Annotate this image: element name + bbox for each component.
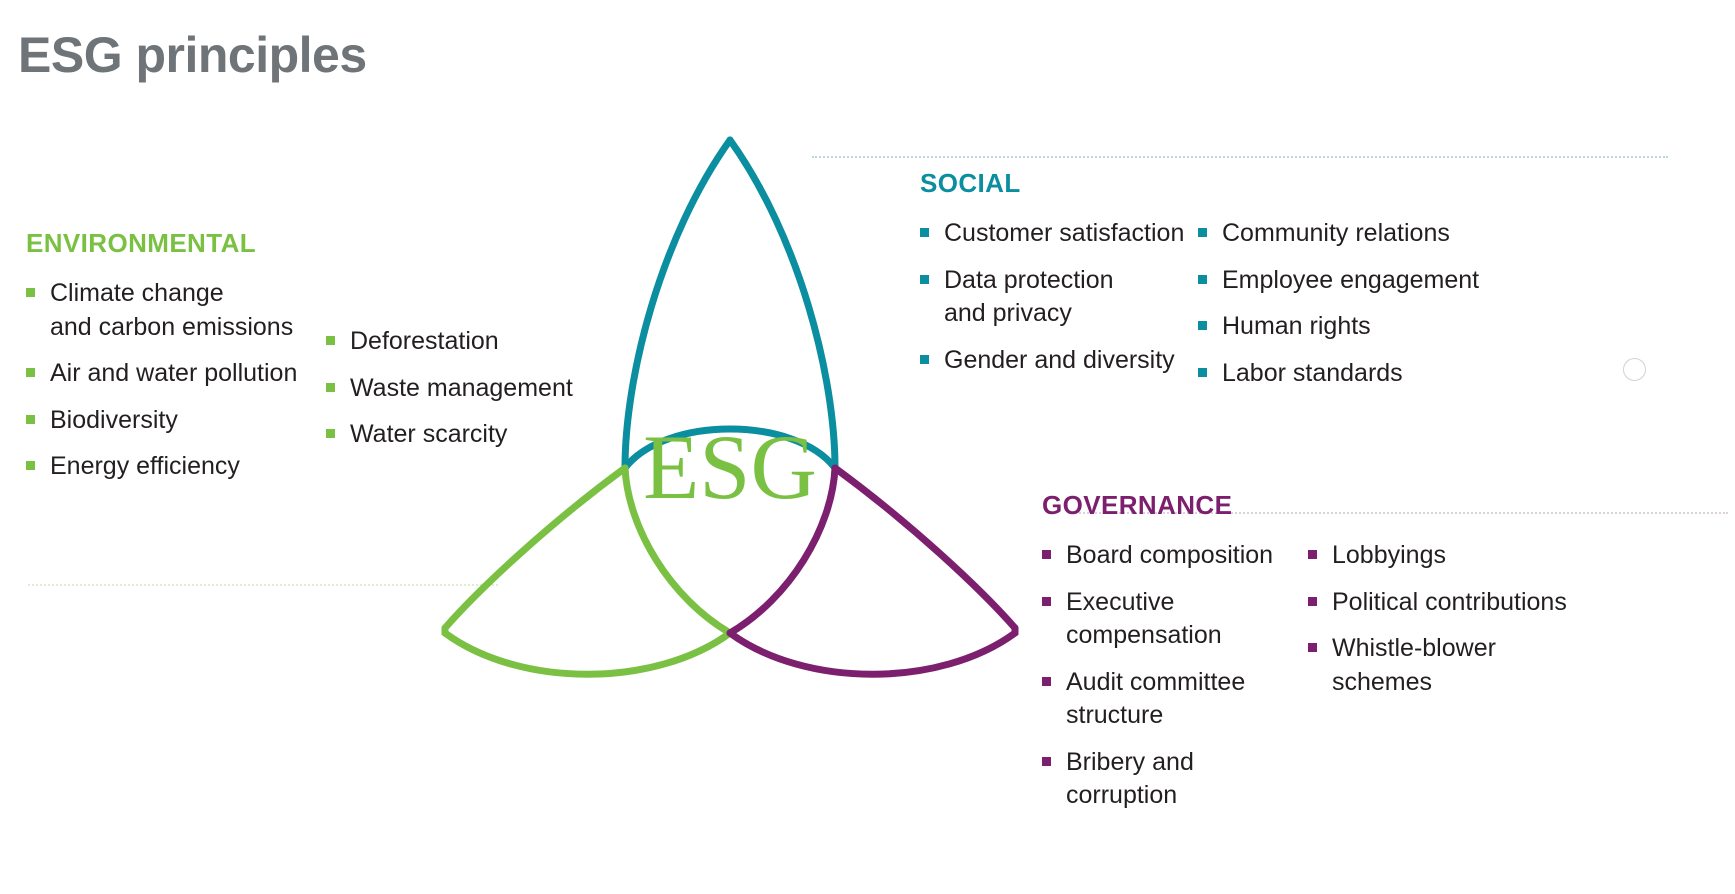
page-title: ESG principles xyxy=(18,26,367,84)
list-item: Human rights xyxy=(1198,310,1488,344)
category-environmental: ENVIRONMENTAL Climate change and carbon … xyxy=(26,228,586,497)
list-item-label: Biodiversity xyxy=(50,404,178,438)
governance-petal-bottom-arc xyxy=(730,628,1015,674)
bullet-square-icon xyxy=(26,288,35,297)
list-item: Bribery and corruption xyxy=(1042,746,1308,813)
list-item: Executive compensation xyxy=(1042,586,1308,653)
category-heading-environmental: ENVIRONMENTAL xyxy=(26,228,586,259)
bullet-square-icon xyxy=(1308,643,1317,652)
guide-line-environmental xyxy=(28,584,498,586)
bullet-square-icon xyxy=(1042,597,1051,606)
list-item-label: Water scarcity xyxy=(350,418,507,452)
environmental-petal-bottom-arc xyxy=(445,628,730,674)
social-column-2: Community relations Employee engagement … xyxy=(1198,217,1488,403)
venn-center-label: ESG xyxy=(643,416,817,518)
list-item: Lobbyings xyxy=(1308,539,1608,573)
list-item-label: Lobbyings xyxy=(1332,539,1446,573)
decorative-circle xyxy=(1623,358,1646,381)
list-item: Biodiversity xyxy=(26,404,326,438)
category-columns-governance: Board composition Executive compensation… xyxy=(1042,539,1608,826)
list-item: Gender and diversity xyxy=(920,344,1198,378)
list-item-label: Customer satisfaction xyxy=(944,217,1184,251)
bullet-square-icon xyxy=(1042,550,1051,559)
bullet-square-icon xyxy=(1308,550,1317,559)
list-item: Deforestation xyxy=(326,325,586,359)
category-columns-social: Customer satisfaction Data protection an… xyxy=(920,217,1488,403)
list-item: Labor standards xyxy=(1198,357,1488,391)
list-item-label: Employee engagement xyxy=(1222,264,1479,298)
category-social: SOCIAL Customer satisfaction Data protec… xyxy=(920,168,1488,403)
list-item: Climate change and carbon emissions xyxy=(26,277,326,344)
list-item: Data protection and privacy xyxy=(920,264,1198,331)
list-item: Water scarcity xyxy=(326,418,586,452)
bullet-square-icon xyxy=(920,275,929,284)
bullet-square-icon xyxy=(1308,597,1317,606)
list-item-label: Whistle-blower schemes xyxy=(1332,632,1496,699)
list-item-label: Climate change and carbon emissions xyxy=(50,277,293,344)
list-item-label: Political contributions xyxy=(1332,586,1567,620)
list-item-label: Gender and diversity xyxy=(944,344,1175,378)
list-item: Energy efficiency xyxy=(26,450,326,484)
bullet-square-icon xyxy=(1198,275,1207,284)
bullet-square-icon xyxy=(326,383,335,392)
list-item-label: Data protection and privacy xyxy=(944,264,1114,331)
governance-petal-outer-arc xyxy=(835,468,1015,628)
category-heading-social: SOCIAL xyxy=(920,168,1488,199)
category-heading-governance: GOVERNANCE xyxy=(1042,490,1608,521)
list-item-label: Deforestation xyxy=(350,325,499,359)
list-item: Audit committee structure xyxy=(1042,666,1308,733)
list-item: Community relations xyxy=(1198,217,1488,251)
list-item-label: Energy efficiency xyxy=(50,450,240,484)
list-item-label: Audit committee structure xyxy=(1066,666,1245,733)
list-item: Political contributions xyxy=(1308,586,1608,620)
category-columns-environmental: Climate change and carbon emissions Air … xyxy=(26,277,586,497)
list-item: Whistle-blower schemes xyxy=(1308,632,1608,699)
list-item: Board composition xyxy=(1042,539,1308,573)
list-item-label: Board composition xyxy=(1066,539,1273,573)
bullet-square-icon xyxy=(1198,368,1207,377)
list-item-label: Labor standards xyxy=(1222,357,1403,391)
bullet-square-icon xyxy=(920,228,929,237)
bullet-square-icon xyxy=(26,461,35,470)
list-item-label: Bribery and corruption xyxy=(1066,746,1308,813)
environmental-column-2: Deforestation Waste management Water sca… xyxy=(326,277,586,465)
governance-column-1: Board composition Executive compensation… xyxy=(1042,539,1308,826)
governance-column-2: Lobbyings Political contributions Whistl… xyxy=(1308,539,1608,712)
bullet-square-icon xyxy=(26,368,35,377)
list-item: Air and water pollution xyxy=(26,357,326,391)
bullet-square-icon xyxy=(920,355,929,364)
bullet-square-icon xyxy=(1042,757,1051,766)
bullet-square-icon xyxy=(1198,228,1207,237)
list-item-label: Human rights xyxy=(1222,310,1371,344)
bullet-square-icon xyxy=(26,415,35,424)
environmental-column-1: Climate change and carbon emissions Air … xyxy=(26,277,326,497)
list-item-label: Executive compensation xyxy=(1066,586,1222,653)
bullet-square-icon xyxy=(1042,677,1051,686)
list-item: Waste management xyxy=(326,372,586,406)
list-item: Customer satisfaction xyxy=(920,217,1198,251)
bullet-square-icon xyxy=(326,429,335,438)
list-item-label: Waste management xyxy=(350,372,573,406)
list-item-label: Air and water pollution xyxy=(50,357,297,391)
category-governance: GOVERNANCE Board composition Executive c… xyxy=(1042,490,1608,826)
bullet-square-icon xyxy=(326,336,335,345)
list-item: Employee engagement xyxy=(1198,264,1488,298)
esg-principles-slide: ESG principles ESG ENVIRONMENTAL xyxy=(0,0,1735,894)
list-item-label: Community relations xyxy=(1222,217,1450,251)
bullet-square-icon xyxy=(1198,321,1207,330)
social-column-1: Customer satisfaction Data protection an… xyxy=(920,217,1198,390)
